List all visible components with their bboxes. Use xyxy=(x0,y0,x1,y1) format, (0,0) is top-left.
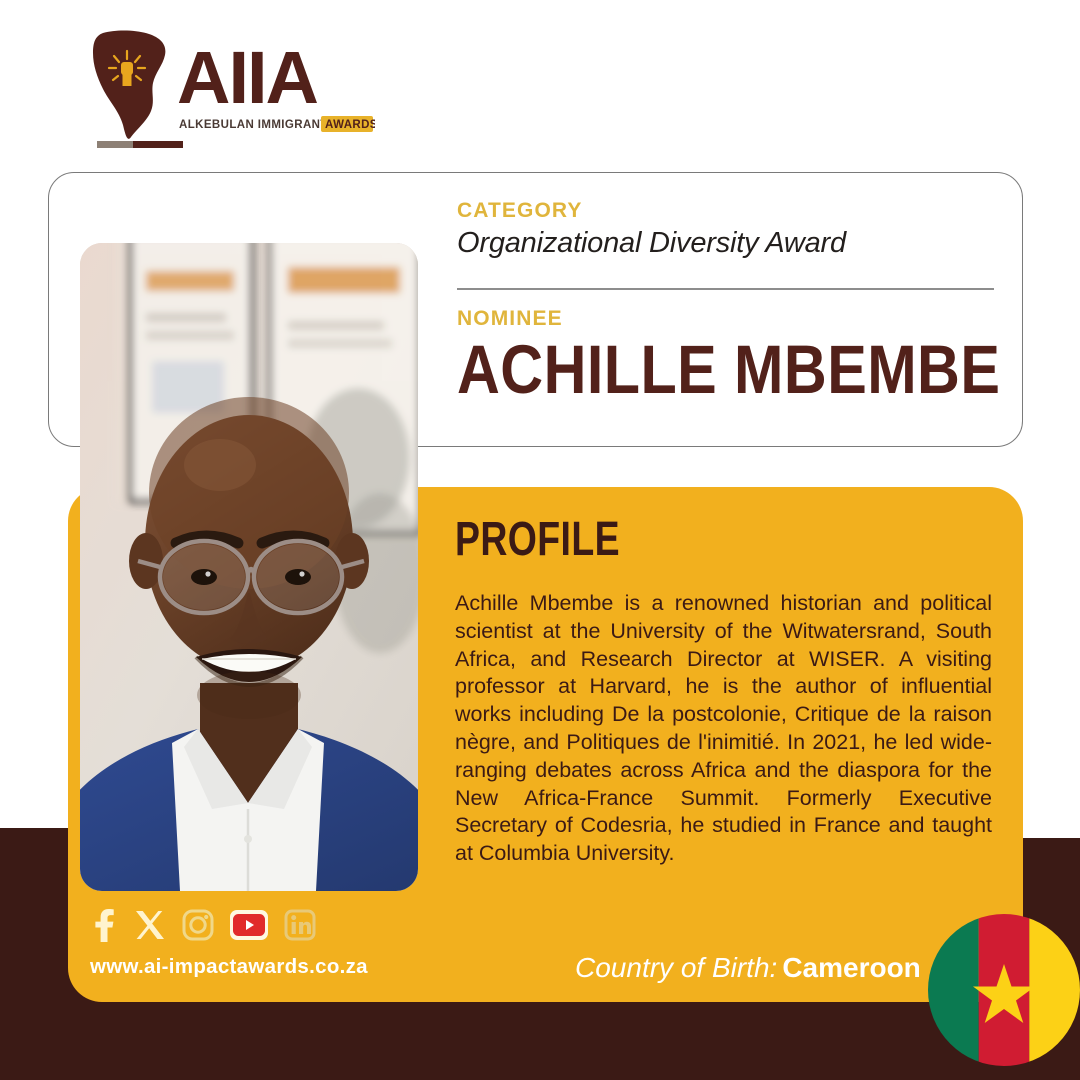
social-links xyxy=(90,908,316,947)
decorative-dot xyxy=(835,14,859,38)
country-of-birth-value: Cameroon xyxy=(782,952,920,983)
decorative-dot xyxy=(937,110,961,134)
decorative-dot xyxy=(1039,158,1063,182)
category-value: Organizational Diversity Award xyxy=(457,227,997,260)
aiia-logo: AIIA ALKEBULAN IMMIGRANTS IMPACT AWARDS xyxy=(75,25,375,150)
instagram-icon[interactable] xyxy=(182,909,214,946)
decorative-dot xyxy=(1039,110,1063,134)
country-of-birth-label: Country of Birth: xyxy=(575,952,777,983)
category-block: CATEGORY Organizational Diversity Award xyxy=(457,199,997,260)
cameroon-flag xyxy=(928,914,1080,1066)
logo-tagline-awards: AWARDS xyxy=(325,119,375,131)
nominee-portrait xyxy=(80,243,418,891)
profile-body: Achille Mbembe is a renowned historian a… xyxy=(455,590,992,868)
decorative-dot xyxy=(1039,254,1063,278)
decorative-dot xyxy=(988,110,1012,134)
decorative-dot xyxy=(937,14,961,38)
dot-row xyxy=(1039,254,1080,278)
decorative-dot xyxy=(835,62,859,86)
decorative-dot xyxy=(1039,14,1063,38)
website-url[interactable]: www.ai-impactawards.co.za xyxy=(90,955,368,979)
dot-row xyxy=(784,14,1080,38)
decorative-dot xyxy=(1039,62,1063,86)
dot-row xyxy=(835,62,1080,86)
logo-wordmark: AIIA xyxy=(177,36,318,119)
decorative-dot xyxy=(1039,206,1063,230)
nominee-name: ACHILLE MBEMBE xyxy=(457,335,939,405)
africa-map-fist-icon xyxy=(93,30,165,138)
decorative-dot xyxy=(886,14,910,38)
decorative-dot xyxy=(937,62,961,86)
decorative-dot xyxy=(988,62,1012,86)
facebook-icon[interactable] xyxy=(90,908,118,947)
x-twitter-icon[interactable] xyxy=(134,909,166,946)
profile-heading: PROFILE xyxy=(455,512,620,567)
country-of-birth: Country of Birth:Cameroon xyxy=(575,952,921,984)
dot-row xyxy=(886,110,1080,134)
linkedin-icon[interactable] xyxy=(284,909,316,946)
nominee-block: NOMINEE ACHILLE MBEMBE xyxy=(457,307,1017,405)
decorative-dot xyxy=(988,14,1012,38)
nominee-label: NOMINEE xyxy=(457,307,1017,331)
youtube-icon[interactable] xyxy=(230,909,268,946)
decorative-dot xyxy=(784,14,808,38)
category-label: CATEGORY xyxy=(457,199,997,223)
card-divider xyxy=(457,288,994,290)
decorative-dot xyxy=(886,110,910,134)
decorative-dot xyxy=(886,62,910,86)
